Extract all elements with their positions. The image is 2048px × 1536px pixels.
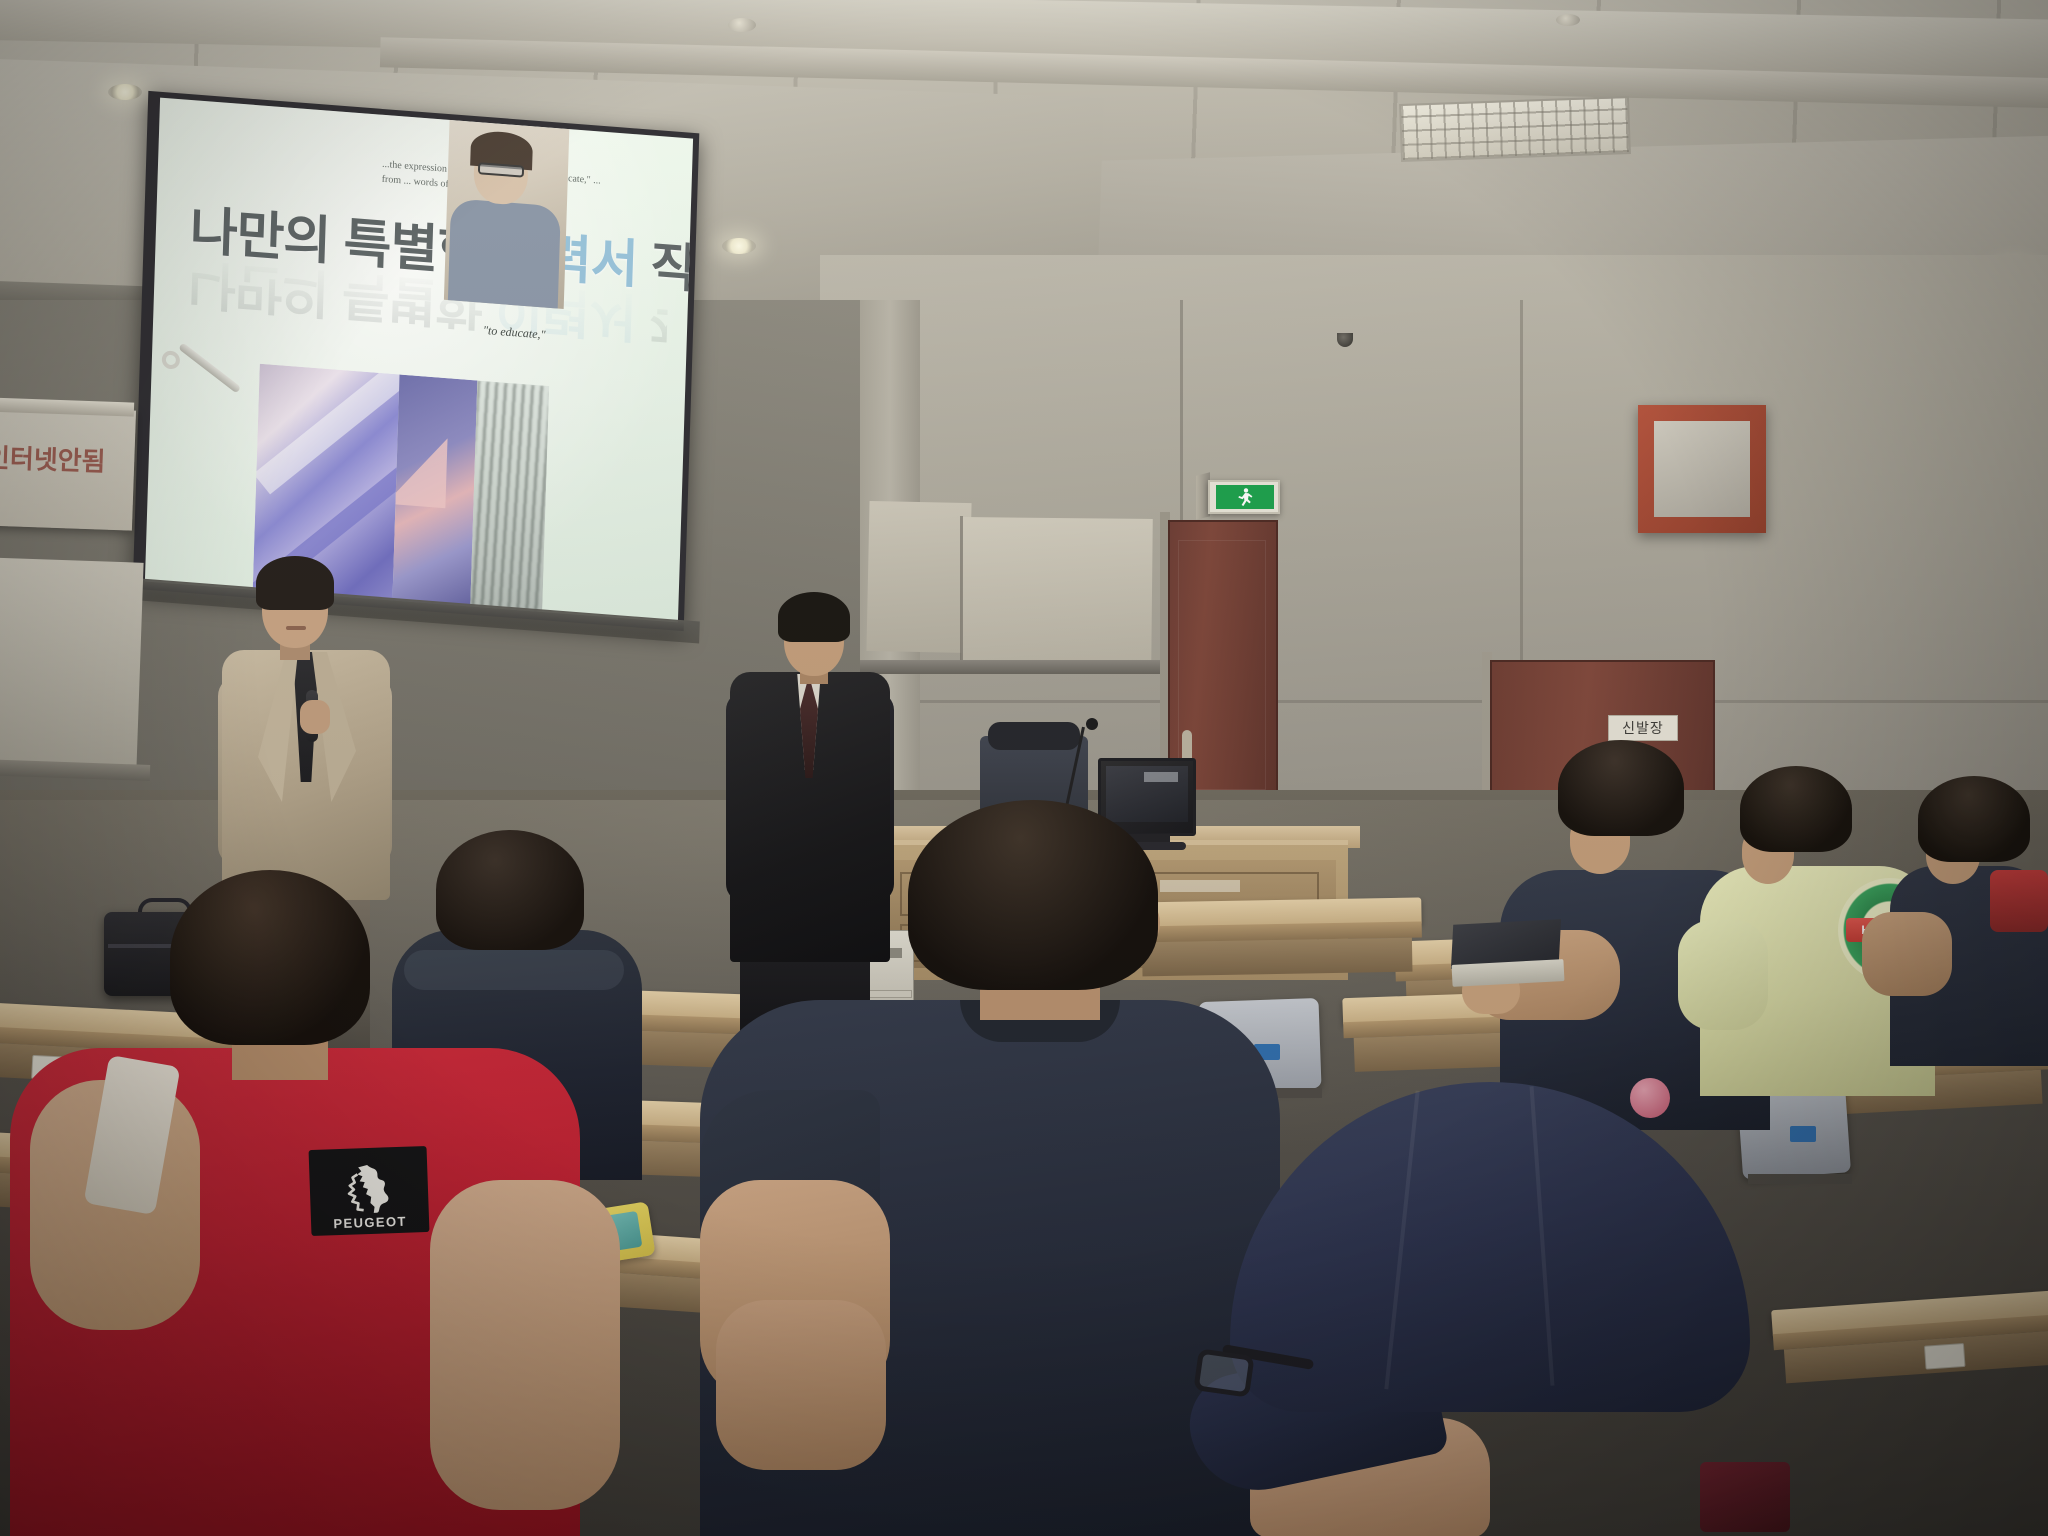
front-whiteboard-divider — [960, 516, 963, 666]
desk-right-foreground — [1771, 1290, 2048, 1460]
shoe-cabinet-door-sign-label: 신발장 — [1622, 718, 1664, 738]
student-far-right-red-panel — [1990, 870, 2048, 932]
glasses-lens-icon — [1193, 1348, 1254, 1397]
collage-dictionary-lines — [470, 381, 549, 618]
left-wall-panel-lower — [0, 557, 144, 772]
front-whiteboard-right — [961, 517, 1153, 667]
collage-panel-person — [444, 120, 569, 309]
fluorescent-troffer — [1399, 96, 1631, 162]
chair-frame-bar-2 — [1748, 1174, 1852, 1184]
front-whiteboard-left — [866, 501, 971, 653]
collage-person-body — [448, 198, 561, 309]
presenter-chair-headrest — [988, 722, 1080, 750]
whiteboard-note-text: 인터넷안됨 — [0, 438, 127, 480]
student-2nd-row-hair — [436, 830, 584, 950]
desk-sticker — [1924, 1343, 1966, 1370]
student-center-forearm — [716, 1300, 886, 1470]
assistant-hair — [778, 592, 850, 642]
shoe-cabinet-door-sign: 신발장 — [1608, 715, 1678, 741]
cap-button — [1630, 1078, 1670, 1118]
photo-scene: 나만의 특별한 이력서 작성법 나만의 특별한 이력서 작성법 ...the e… — [0, 0, 2048, 1536]
desk-center-back — [1131, 897, 1423, 992]
student-right-row-hair — [1558, 740, 1684, 836]
presenter-hand — [300, 700, 330, 734]
troffer-grid — [1401, 98, 1629, 160]
crt-monitor-glare — [1144, 772, 1178, 782]
downlight-3 — [722, 238, 756, 254]
cap-side-patch — [1700, 1462, 1790, 1532]
presenter-hair — [256, 556, 334, 610]
peugeot-logo-text: PEUGEOT — [333, 1214, 407, 1232]
collage-panel-abstract-mid — [392, 375, 477, 613]
chair-seat-tag-2 — [1790, 1126, 1816, 1142]
student-heineken-sleeve — [1678, 920, 1768, 1030]
collage-panel-dictionary — [470, 381, 549, 618]
peugeot-logo-patch: PEUGEOT — [309, 1146, 430, 1236]
student-2nd-row-shoulder-highlight — [404, 950, 624, 990]
student-peugeot-hair — [170, 870, 370, 1045]
student-heineken-hair — [1740, 766, 1852, 852]
student-far-right-hair — [1918, 776, 2030, 862]
student-center-hair — [908, 800, 1158, 990]
collage-stripe-light — [253, 364, 399, 495]
wall-picture-frame-inner — [1654, 421, 1750, 517]
desk-apron — [1142, 938, 1413, 977]
smoke-detector — [728, 18, 756, 32]
podium-label-plate — [1160, 880, 1240, 892]
wall-seam-horizontal — [830, 700, 2048, 703]
exit-sign-icon — [1216, 485, 1274, 509]
gooseneck-microphone-head — [1086, 718, 1098, 730]
collage-triangle — [392, 434, 447, 509]
peugeot-lion-icon — [345, 1162, 393, 1216]
projection-screen: 나만의 특별한 이력서 작성법 나만의 특별한 이력서 작성법 ...the e… — [145, 98, 693, 623]
student-peugeot-arm — [430, 1180, 620, 1510]
ceiling-vent — [1556, 14, 1580, 26]
downlight-1 — [108, 84, 142, 100]
presenter-mouth — [286, 626, 306, 630]
front-whiteboard-rail — [860, 660, 1160, 674]
student-far-right-arm — [1862, 912, 1952, 996]
